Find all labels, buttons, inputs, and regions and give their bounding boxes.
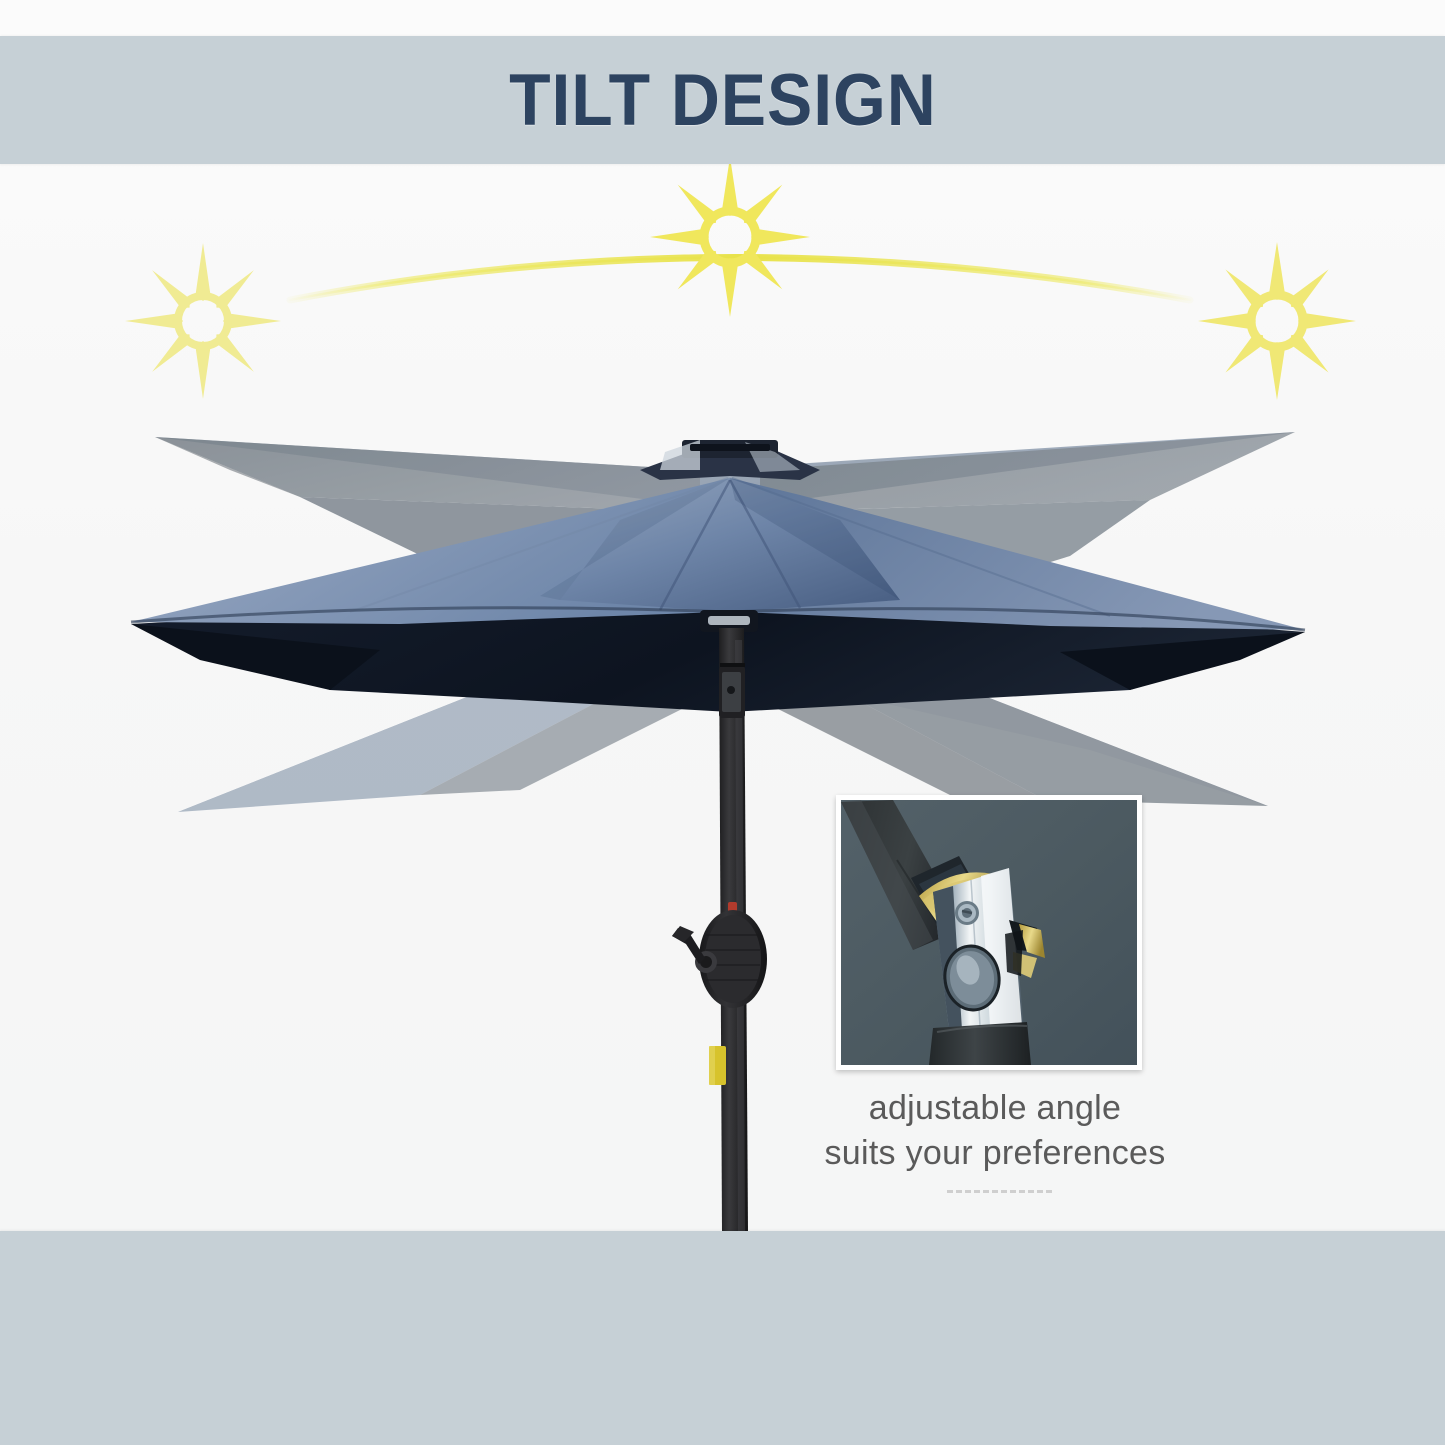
caption-line-1: adjustable angle <box>760 1086 1230 1131</box>
tilt-mechanism-inset[interactable] <box>836 795 1142 1070</box>
page-title-text: TILT DESIGN <box>509 59 937 142</box>
tilt-mechanism-photo <box>841 800 1137 1065</box>
background <box>0 0 1445 1445</box>
caption-line-2: suits your preferences <box>760 1131 1230 1176</box>
footer-band <box>0 1231 1445 1445</box>
page-title: TILT DESIGN <box>0 36 1445 164</box>
product-feature-image: TILT DESIGN <box>0 0 1445 1445</box>
dashed-divider <box>947 1190 1052 1193</box>
caption-block: adjustable angle suits your preferences <box>760 1086 1230 1176</box>
